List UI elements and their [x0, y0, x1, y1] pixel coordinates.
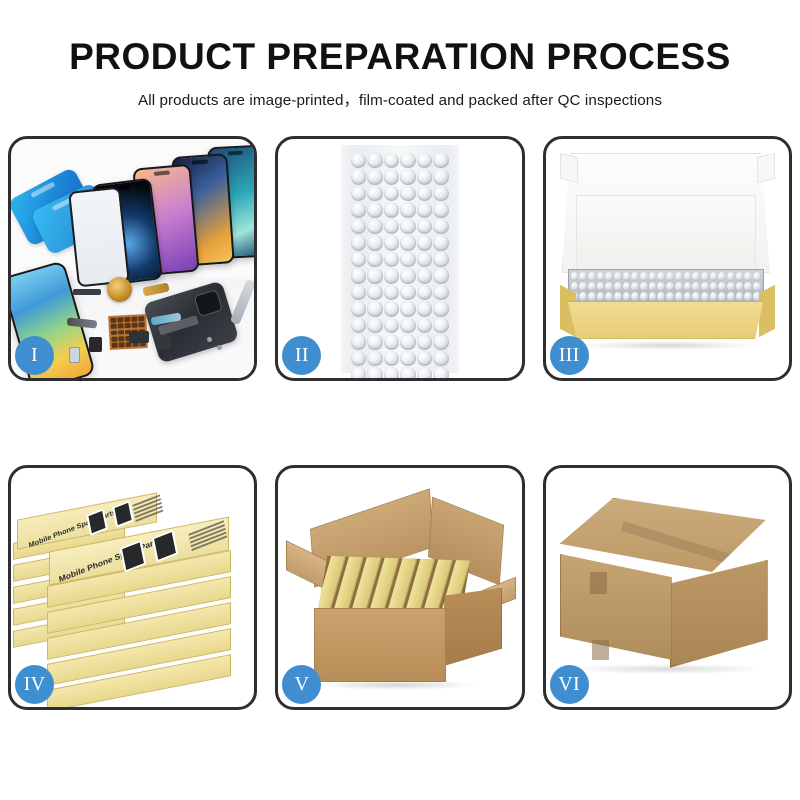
- screw-part: [207, 337, 212, 342]
- foam-padding: [576, 195, 756, 273]
- drop-shadow: [318, 680, 475, 690]
- box-lid-flap: [560, 153, 578, 183]
- step-badge-5: V: [282, 665, 321, 704]
- process-steps-grid: I: [0, 136, 800, 710]
- drop-shadow: [572, 664, 763, 674]
- screw-part: [217, 345, 222, 350]
- small-part: [73, 289, 101, 295]
- bubble-grid: [351, 153, 449, 367]
- step-badge-6: VI: [550, 665, 589, 704]
- box-front: [562, 301, 770, 339]
- carton-side: [444, 588, 502, 666]
- copper-coil-part: [107, 277, 132, 302]
- battery-part: [129, 331, 149, 343]
- speaker-part: [157, 335, 171, 349]
- sim-tray-part: [69, 347, 80, 363]
- carton-front: [314, 608, 446, 682]
- step-panel-1: I: [8, 136, 257, 381]
- step-badge-3: III: [550, 336, 589, 375]
- carton-side: [670, 560, 768, 668]
- carton-front: [560, 554, 672, 660]
- box-lid-flap: [757, 153, 775, 183]
- step-badge-2: II: [282, 336, 321, 375]
- printed-spec-lines: [132, 494, 163, 524]
- step-panel-4: Mobile Phone Spare Parts Mobile Phone Sp…: [8, 465, 257, 710]
- drop-shadow: [580, 341, 755, 350]
- step-badge-1: I: [15, 336, 54, 375]
- camera-part: [89, 337, 102, 352]
- page-title: PRODUCT PREPARATION PROCESS: [0, 38, 800, 77]
- printed-screen-image: [112, 500, 134, 528]
- step-badge-4: IV: [15, 665, 54, 704]
- page-header: PRODUCT PREPARATION PROCESS All products…: [0, 0, 800, 110]
- page-subtitle: All products are image-printed，film-coat…: [0, 88, 800, 110]
- step-panel-3: III: [543, 136, 792, 381]
- screen-protector-glass: [68, 186, 130, 287]
- printed-screen-image: [152, 529, 179, 562]
- camera-module: [194, 289, 223, 317]
- carton-tab: [592, 640, 609, 660]
- printed-spec-lines: [188, 520, 227, 553]
- step-panel-6: VI: [543, 465, 792, 710]
- box-side: [759, 285, 775, 338]
- printed-screen-image: [86, 508, 108, 536]
- carton-tab: [590, 572, 607, 594]
- bubble-wrap-pouch: [341, 145, 459, 373]
- step-panel-2: II: [275, 136, 524, 381]
- step-panel-5: V: [275, 465, 524, 710]
- bubble-wrapped-item: [568, 269, 764, 305]
